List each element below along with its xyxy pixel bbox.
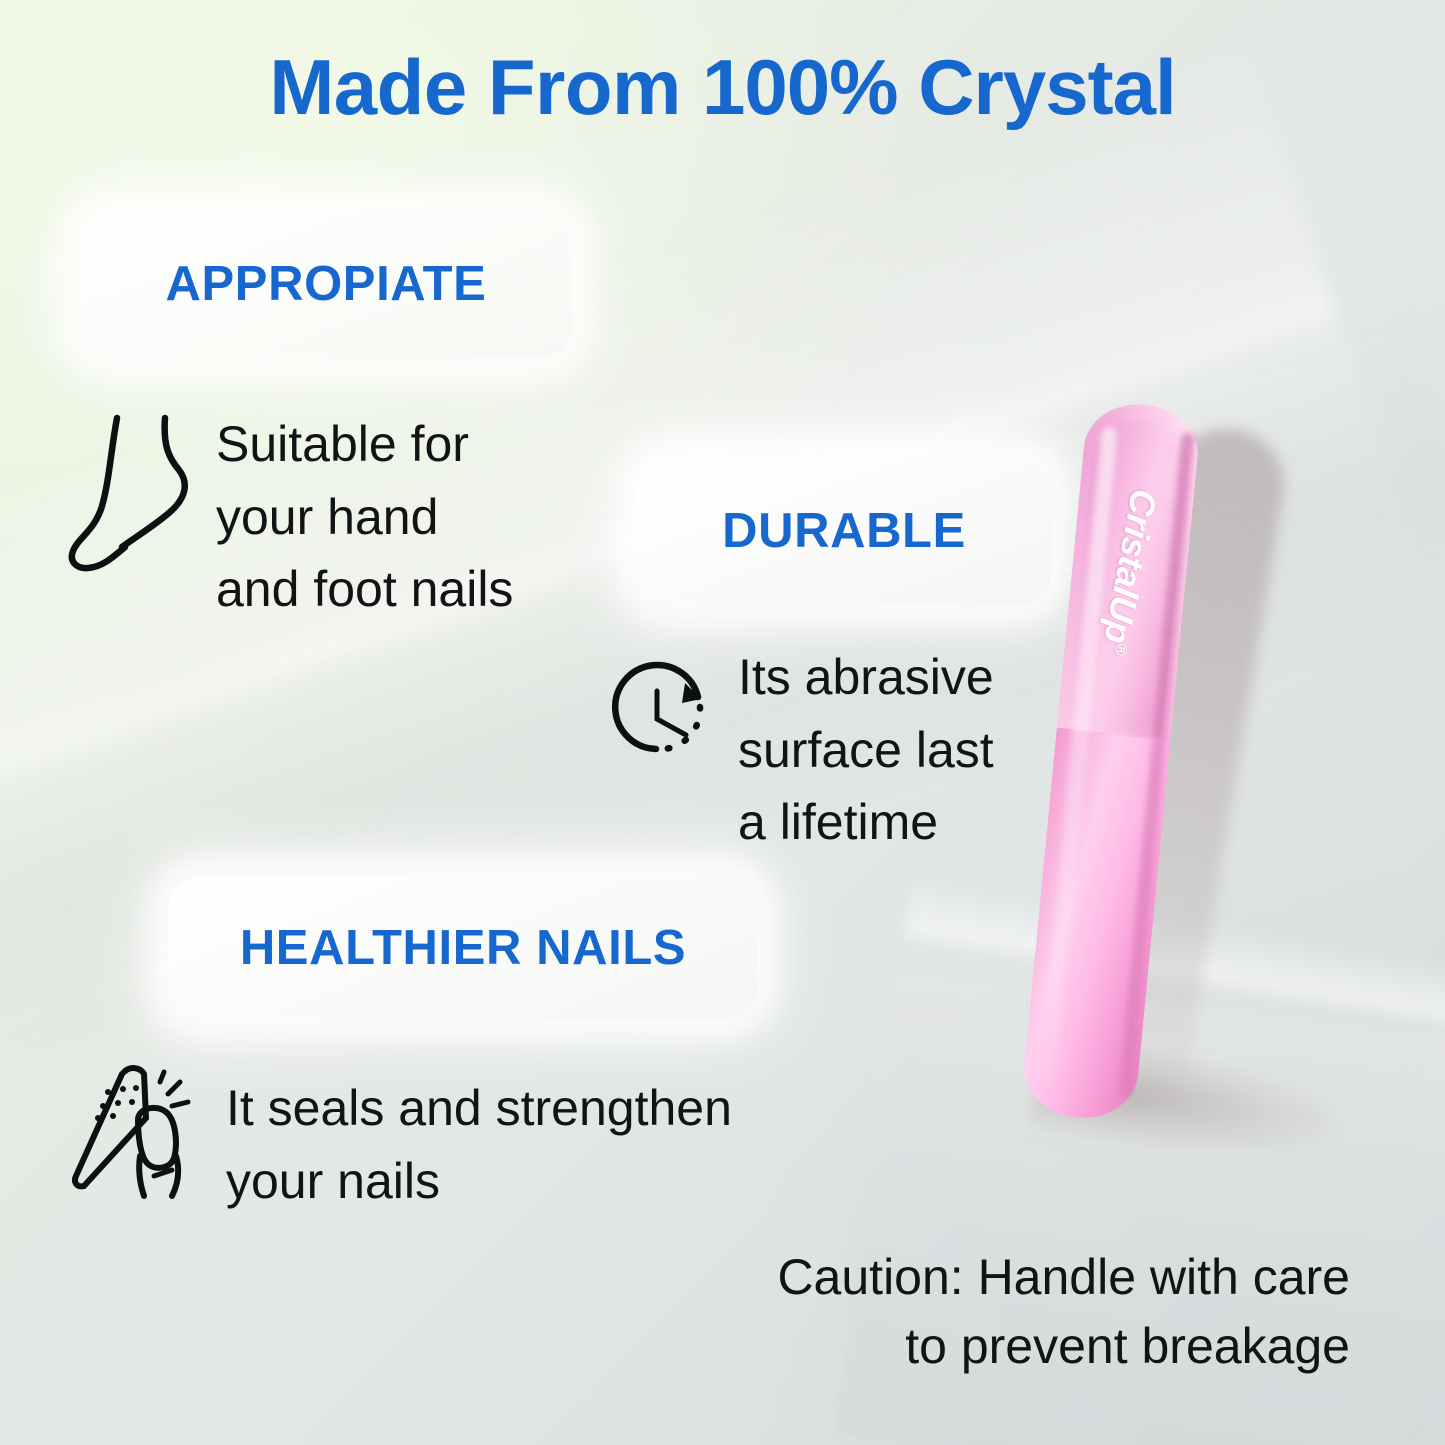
badge-healthier-nails: HEALTHIER NAILS xyxy=(168,876,758,1019)
feature-suitable-hand-foot-text: Suitable for your hand and foot nails xyxy=(216,408,513,626)
badge-appropiate: APPROPIATE xyxy=(80,210,572,358)
page-title-heavy: 100% Crystal xyxy=(702,43,1176,131)
clock-arrow-icon xyxy=(612,645,724,774)
page-title-light: Made From xyxy=(269,43,702,131)
product-nail-file: CristalUp® xyxy=(1020,395,1270,1135)
caution-note: Caution: Handle with care to prevent bre… xyxy=(560,1243,1350,1381)
feature-seals-strengthen: It seals and strengthen your nails xyxy=(68,1058,732,1217)
badge-healthier-nails-label: HEALTHIER NAILS xyxy=(240,920,686,976)
badge-durable-label: DURABLE xyxy=(722,503,966,559)
infographic-canvas: Made From 100% Crystal APPROPIATE DURABL… xyxy=(0,0,1445,1445)
feature-suitable-hand-foot: Suitable for your hand and foot nails xyxy=(62,406,513,626)
foot-icon xyxy=(62,406,194,579)
nail-file-icon xyxy=(68,1058,202,1205)
badge-appropiate-label: APPROPIATE xyxy=(166,256,487,312)
feature-abrasive-lifetime-text: Its abrasive surface last a lifetime xyxy=(738,641,994,859)
feature-seals-strengthen-text: It seals and strengthen your nails xyxy=(226,1072,732,1217)
badge-durable: DURABLE xyxy=(637,456,1051,606)
feature-abrasive-lifetime: Its abrasive surface last a lifetime xyxy=(612,645,994,859)
page-title: Made From 100% Crystal xyxy=(0,48,1445,126)
